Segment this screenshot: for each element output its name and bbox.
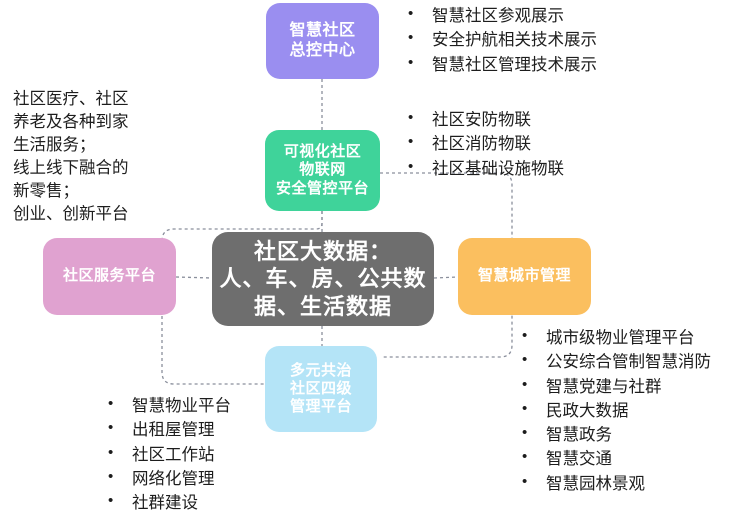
annotation-service-note: 社区医疗、社区 养老及各种到家 生活服务； 线上线下融合的 新零售； 创业、创新… (13, 88, 188, 227)
list-item: 智慧社区管理技术展示 (402, 53, 597, 77)
node-community-service-platform[interactable]: 社区服务平台 (43, 238, 176, 315)
list-item: 民政大数据 (516, 399, 711, 423)
node-smart-city-management[interactable]: 智慧城市管理 (458, 238, 591, 315)
list-item: 安全护航相关技术展示 (402, 28, 597, 52)
list-item: 智慧园林景观 (516, 472, 711, 496)
node-community-big-data-label: 社区大数据： 人、车、房、公共数 据、生活数据 (219, 238, 426, 321)
annotation-iot-bullets: 社区安防物联 社区消防物联 社区基础设施物联 (402, 108, 564, 181)
node-community-big-data[interactable]: 社区大数据： 人、车、房、公共数 据、生活数据 (212, 232, 434, 326)
list-item: 社区安防物联 (402, 108, 564, 132)
node-smart-community-control-center-label: 智慧社区 总控中心 (289, 21, 355, 60)
node-smart-community-control-center[interactable]: 智慧社区 总控中心 (266, 3, 379, 79)
node-multi-governance-four-level-platform[interactable]: 多元共治 社区四级 管理平台 (265, 346, 377, 432)
list-item: 智慧政务 (516, 423, 711, 447)
list-item: 社区消防物联 (402, 132, 564, 156)
node-community-service-platform-label: 社区服务平台 (63, 267, 156, 285)
diagram-canvas: 社区大数据： 人、车、房、公共数 据、生活数据 智慧社区 总控中心 可视化社区 … (0, 0, 740, 512)
list-item: 智慧党建与社群 (516, 375, 711, 399)
list-item: 智慧社区参观展示 (402, 4, 597, 28)
list-item: 网络化管理 (102, 467, 231, 491)
link-center-to-city (434, 277, 458, 278)
node-visual-community-iot-security-platform[interactable]: 可视化社区 物联网 安全管控平台 (265, 130, 380, 211)
list-item: 智慧物业平台 (102, 394, 231, 418)
node-multi-governance-four-level-platform-label: 多元共治 社区四级 管理平台 (290, 362, 352, 417)
list-item: 智慧交通 (516, 447, 711, 471)
list-item: 社区工作站 (102, 443, 231, 467)
node-smart-city-management-label: 智慧城市管理 (478, 267, 571, 285)
list-item: 出租屋管理 (102, 418, 231, 442)
list-item: 社群建设 (102, 491, 231, 515)
list-item: 公安综合管制智慧消防 (516, 350, 711, 374)
list-item: 城市级物业管理平台 (516, 326, 711, 350)
annotation-control-center-bullets: 智慧社区参观展示 安全护航相关技术展示 智慧社区管理技术展示 (402, 4, 597, 77)
list-item: 社区基础设施物联 (402, 157, 564, 181)
annotation-city-bullets: 城市级物业管理平台 公安综合管制智慧消防 智慧党建与社群 民政大数据 智慧政务 … (516, 326, 711, 496)
link-service-to-center (176, 277, 212, 278)
annotation-governance-bullets: 智慧物业平台 出租屋管理 社区工作站 网络化管理 社群建设 (102, 394, 231, 515)
node-visual-community-iot-security-platform-label: 可视化社区 物联网 安全管控平台 (276, 143, 369, 198)
